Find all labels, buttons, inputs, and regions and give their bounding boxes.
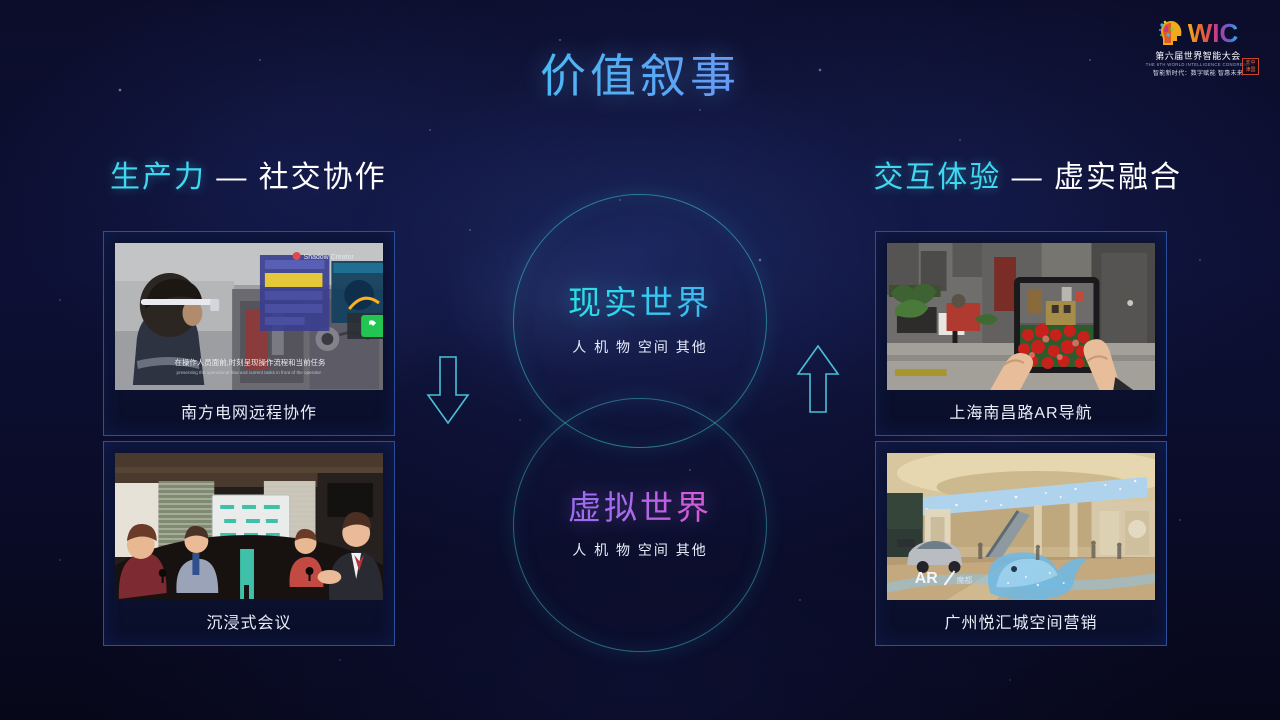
right-column-heading: 交互体验 — 虚实融合: [873, 152, 1182, 196]
down-arrow-icon: [425, 355, 471, 432]
photo-tablet-ar-street-flowers: [887, 243, 1155, 390]
slide-canvas: 价值叙事 WIC 第六届世界智能大会 THE 6TH WORLD INTELLI…: [0, 0, 1280, 720]
circle-virtual-world: 虚拟世界 人 机 物 空间 其他: [513, 398, 767, 652]
card-bottom-left[interactable]: 沉浸式会议: [103, 441, 395, 646]
photo-mall-ar-whale: AR 魔都: [887, 453, 1155, 600]
right-heading-plain: — 虚实融合: [1012, 161, 1182, 194]
circle-virtual-title: 虚拟世界: [568, 490, 712, 526]
svg-text:presenting the operational flo: presenting the operational flow and curr…: [177, 370, 322, 375]
card-top-left[interactable]: Shadow Creator 在操作人员面前,时刻呈现操作流程和当前任务 pre…: [103, 231, 395, 436]
logo-slogan: 智能新时代：数字赋能 智惠未来: [1153, 68, 1243, 77]
page-title: 价值叙事: [0, 40, 1280, 106]
svg-text:魔都: 魔都: [956, 575, 972, 585]
card-caption: 沉浸式会议: [104, 609, 394, 633]
svg-text:在操作人员面前,时刻呈现操作流程和当前任务: 在操作人员面前,时刻呈现操作流程和当前任务: [175, 357, 326, 367]
left-heading-plain: — 社交协作: [216, 161, 386, 194]
card-caption: 上海南昌路AR导航: [876, 399, 1166, 423]
logo-seal-line1: 天中: [1245, 60, 1255, 67]
logo-name-cn: 第六届世界智能大会: [1155, 49, 1241, 62]
card-caption: 广州悦汇城空间营销: [876, 609, 1166, 633]
logo-name-en: THE 6TH WORLD INTELLIGENCE CONGRESS: [1146, 62, 1250, 67]
circle-virtual-subtitle: 人 机 物 空间 其他: [572, 540, 708, 560]
card-bottom-right[interactable]: AR 魔都 广州悦汇城空间营销: [875, 441, 1167, 646]
logo-seal-icon: 天中 津国: [1242, 58, 1259, 75]
card-top-right[interactable]: 上海南昌路AR导航: [875, 231, 1167, 436]
right-heading-accent: 交互体验: [873, 161, 1001, 194]
photo-virtual-meeting-room-avatars: [115, 453, 383, 600]
card-caption: 南方电网远程协作: [104, 399, 394, 423]
photo-ar-glasses-field-worker: Shadow Creator 在操作人员面前,时刻呈现操作流程和当前任务 pre…: [115, 243, 383, 390]
logo-seal-line2: 津国: [1245, 67, 1255, 74]
circle-real-subtitle: 人 机 物 空间 其他: [572, 337, 708, 357]
left-heading-accent: 生产力: [110, 161, 206, 194]
wic-logo: WIC 第六届世界智能大会 THE 6TH WORLD INTELLIGENCE…: [1138, 18, 1258, 76]
colorful-head-icon: [1158, 19, 1184, 47]
logo-wordmark: WIC: [1188, 18, 1239, 48]
svg-text:AR: AR: [915, 570, 938, 587]
left-column-heading: 生产力 — 社交协作: [110, 152, 387, 196]
logo-wordmark-row: WIC: [1158, 18, 1239, 48]
circle-real-title: 现实世界: [568, 285, 712, 321]
svg-text:Shadow Creator: Shadow Creator: [304, 254, 355, 261]
up-arrow-icon: [795, 342, 841, 419]
